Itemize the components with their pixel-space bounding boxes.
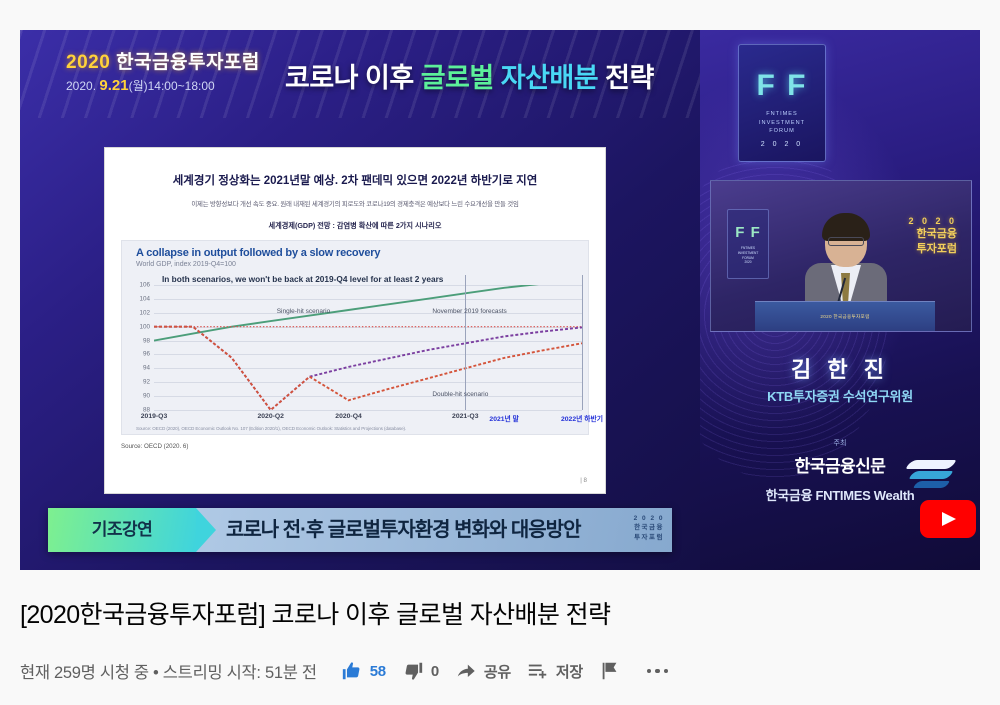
- forum-date: 2020. 9.21(월)14:00~18:00: [66, 77, 260, 94]
- more-horizontal-icon: [637, 669, 679, 674]
- speaker-camera-feed: F F FNTIMES INVESTMENT FORUM 2020 2 0 2 …: [710, 180, 972, 332]
- chart-title: A collapse in output followed by a slow …: [136, 247, 380, 259]
- stage-fif-text: FNTIMES INVESTMENT FORUM 2020: [728, 246, 768, 265]
- chart-annotation: Single-hit scenario: [277, 308, 330, 316]
- thumbs-up-icon: [341, 660, 363, 682]
- fntimes-swoosh-icon: [908, 458, 954, 492]
- lower-third-badge: 기조강연: [48, 508, 196, 552]
- video-player[interactable]: 2020 한국금융투자포럼 2020. 9.21(월)14:00~18:00 코…: [20, 30, 980, 570]
- broadcast-stage: 2020 한국금융투자포럼 2020. 9.21(월)14:00~18:00 코…: [20, 30, 700, 570]
- flag-icon: [599, 660, 621, 682]
- y-axis-tick: 102: [139, 309, 150, 316]
- chart-plot-area: 1061041021009896949290882019-Q32020-Q220…: [154, 285, 582, 410]
- add-to-playlist-icon: [527, 660, 549, 682]
- more-actions-button[interactable]: [629, 653, 687, 689]
- fif-logo-year: 2 0 2 0: [739, 141, 825, 148]
- presentation-slide: 세계경기 정상화는 2021년말 예상. 2차 팬데믹 있으면 2022년 하반…: [105, 148, 605, 493]
- stage-backdrop-text: 2 0 2 0 한국금융 투자포럼: [908, 215, 957, 257]
- report-button[interactable]: [591, 653, 629, 689]
- y-axis-tick: 98: [143, 337, 150, 344]
- stage-fif-monogram: F F: [728, 224, 768, 241]
- y-axis-tick: 92: [143, 379, 150, 386]
- chart-series-layer: [154, 285, 582, 410]
- podium: 2020 한국금융투자포럼: [755, 301, 935, 331]
- y-axis-tick: 90: [143, 393, 150, 400]
- gdp-chart: A collapse in output followed by a slow …: [121, 240, 589, 435]
- chart-line-single-hit-scenario: [154, 327, 582, 410]
- broadcast-title: 코로나 이후 글로벌 자산배분 전략: [285, 56, 654, 95]
- x-axis-tick: 2020-Q4: [335, 413, 361, 420]
- action-bar: 58 0 공유: [333, 653, 687, 689]
- save-button[interactable]: 저장: [519, 653, 591, 689]
- youtube-play-icon[interactable]: [920, 500, 976, 538]
- slide-source: Source: OECD (2020. 6): [121, 443, 589, 450]
- x-axis-tick: 2022년 하반기: [561, 413, 603, 423]
- broadcast-header: 2020 한국금융투자포럼 2020. 9.21(월)14:00~18:00 코…: [20, 30, 700, 118]
- x-axis-tick: 2020-Q2: [257, 413, 283, 420]
- share-button[interactable]: 공유: [447, 653, 519, 689]
- speaker-role: KTB투자증권 수석연구위원: [700, 386, 980, 405]
- y-axis-tick: 104: [139, 295, 150, 302]
- slide-headline: 세계경기 정상화는 2021년말 예상. 2차 팬데믹 있으면 2022년 하반…: [121, 172, 589, 188]
- dislike-button[interactable]: 0: [394, 653, 447, 689]
- like-button[interactable]: 58: [333, 653, 394, 689]
- like-count: 58: [370, 663, 386, 680]
- fif-logo: F F FNTIMES INVESTMENT FORUM 2 0 2 0: [738, 44, 826, 162]
- slide-section-title: 세계경제(GDP) 전망 : 감염병 확산에 따른 2가지 시나리오: [121, 221, 589, 231]
- y-axis-tick: 96: [143, 351, 150, 358]
- fif-logo-text: FNTIMES INVESTMENT FORUM: [739, 110, 825, 136]
- x-axis-tick: 2019-Q3: [141, 413, 167, 420]
- chart-annotation: Double-hit scenario: [432, 391, 488, 399]
- chart-gridline: [154, 410, 582, 411]
- forum-name: 한국금융투자포럼: [116, 52, 260, 73]
- dislike-count: 0: [431, 663, 439, 680]
- lower-third-banner: 기조강연 코로나 전·후 글로벌투자환경 변화와 대응방안 2 0 2 0 한국…: [48, 508, 672, 552]
- forum-mark: 2020 한국금융투자포럼 2020. 9.21(월)14:00~18:00: [66, 52, 260, 94]
- chart-annotation-note: In both scenarios, we won't be back at 2…: [162, 274, 443, 284]
- slide-subline: 이제는 방향성보다 개선 속도 중요. 원래 내재된 세계경기의 피로도와 코로…: [121, 199, 589, 208]
- y-axis-tick: 94: [143, 365, 150, 372]
- chart-source: Source: OECD (2020), OECD Economic Outlo…: [136, 426, 406, 431]
- lower-third-logo: 2 0 2 0 한국금융 투자포럼: [634, 514, 664, 542]
- chart-line-double-hit-scenario: [154, 327, 582, 410]
- video-meta: [2020한국금융투자포럼] 코로나 이후 글로벌 자산배분 전략 현재 259…: [20, 595, 980, 689]
- chart-marker-line: [465, 275, 466, 410]
- x-axis-tick: 2021년 말: [489, 413, 519, 423]
- meta-row: 현재 259명 시청 중 • 스트리밍 시작: 51분 전 58: [20, 653, 980, 689]
- stage-fif-logo: F F FNTIMES INVESTMENT FORUM 2020: [727, 209, 769, 279]
- y-axis-tick: 106: [139, 282, 150, 289]
- save-label: 저장: [556, 661, 583, 682]
- page-title: [2020한국금융투자포럼] 코로나 이후 글로벌 자산배분 전략: [20, 595, 980, 631]
- chart-annotation: November 2019 forecasts: [432, 308, 506, 316]
- thumbs-down-icon: [402, 660, 424, 682]
- broadcast-right-pane: F F FNTIMES INVESTMENT FORUM 2 0 2 0 F F…: [700, 30, 980, 570]
- view-count-text: 현재 259명 시청 중 • 스트리밍 시작: 51분 전: [20, 659, 317, 683]
- lower-third-text: 코로나 전·후 글로벌투자환경 변화와 대응방안: [226, 508, 581, 552]
- share-label: 공유: [484, 661, 511, 682]
- forum-year: 2020: [66, 52, 110, 73]
- chart-line-november-2019-forecasts: [154, 285, 582, 341]
- fif-monogram: F F: [739, 71, 825, 101]
- share-arrow-icon: [455, 660, 477, 682]
- chart-marker-line: [582, 275, 583, 410]
- x-axis-tick: 2021-Q3: [452, 413, 478, 420]
- host-label: 주최: [700, 438, 980, 448]
- speaker-glasses: [828, 237, 864, 246]
- speaker-name: 김 한 진: [700, 352, 980, 384]
- chart-subtitle: World GDP, index 2019-Q4=100: [136, 261, 236, 268]
- slide-page-number: | 8: [580, 477, 587, 484]
- y-axis-tick: 100: [139, 323, 150, 330]
